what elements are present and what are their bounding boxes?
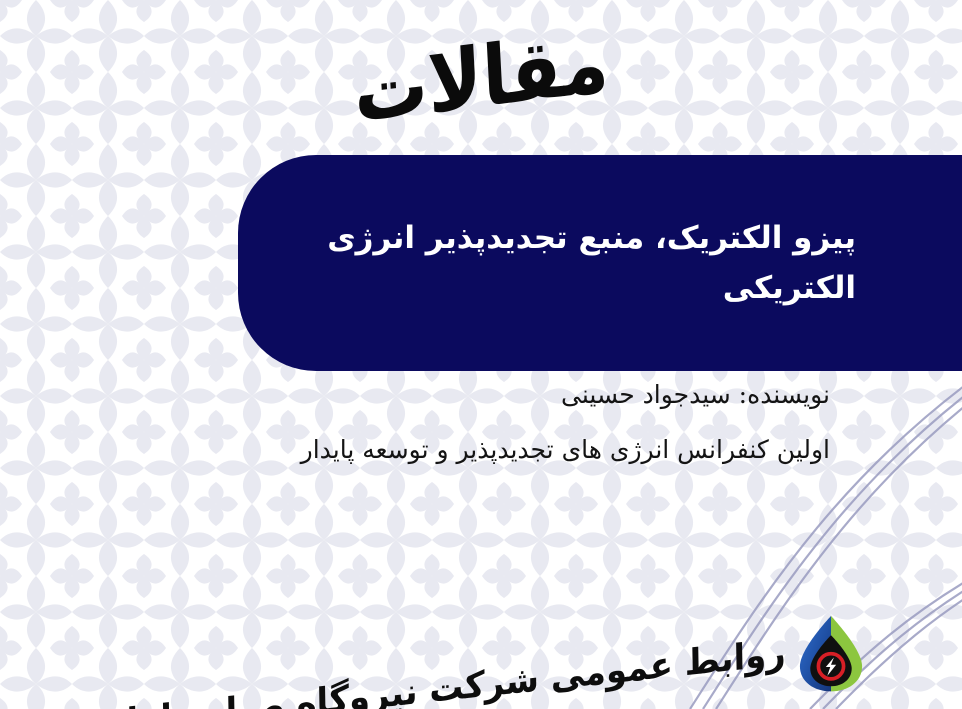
author-line: نویسنده: سیدجواد حسینی xyxy=(40,378,830,412)
slide-canvas: مقالات پیزو الکتریک، منبع تجدیدپذیر انرژ… xyxy=(0,0,962,709)
page-title: مقالات xyxy=(0,14,962,142)
footer-lockup: روابط عمومی شرکت نیروگاه صبا دهلران xyxy=(0,605,962,701)
article-title-text: پیزو الکتریک، منبع تجدیدپذیر انرژی الکتر… xyxy=(278,213,856,313)
page-title-text: مقالات xyxy=(352,21,611,135)
article-title-card: پیزو الکتریک، منبع تجدیدپذیر انرژی الکتر… xyxy=(238,155,962,371)
article-meta: نویسنده: سیدجواد حسینی اولین کنفرانس انر… xyxy=(0,378,962,467)
conference-line: اولین کنفرانس انرژی های تجدیدپذیر و توسع… xyxy=(40,433,830,467)
footer-caption-text: روابط عمومی شرکت نیروگاه صبا دهلران xyxy=(98,635,786,709)
water-droplet-energy-logo-icon xyxy=(794,613,868,693)
